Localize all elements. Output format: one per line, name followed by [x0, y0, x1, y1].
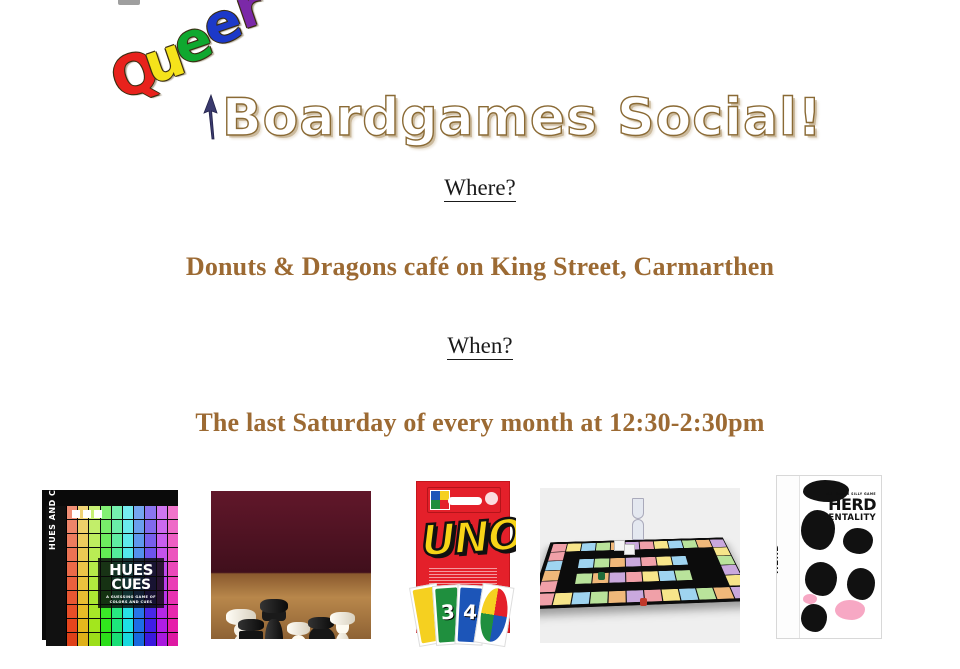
hues-spine: HUES AND CUES [46, 506, 67, 646]
boardgame-image-strip: HUES AND CUES HUES CUES A GUESSING GAME … [0, 455, 960, 660]
when-label: When? [0, 333, 960, 359]
uno-fine-print [429, 568, 497, 584]
herd-spine: HERD [777, 476, 800, 638]
herd-title-line1: HERD [816, 497, 876, 513]
player-token-red [640, 598, 647, 606]
hues-pips [72, 510, 102, 518]
chess-photo [211, 491, 371, 639]
when-label-text: When? [447, 333, 512, 360]
uno-hang-slot [448, 497, 482, 505]
hues-logo: HUES CUES A GUESSING GAME OF COLORS AND … [98, 558, 164, 608]
gallery-image-uno: UNO 3 4 [408, 477, 516, 649]
hourglass-timer-icon [632, 498, 642, 540]
arrow-pointer-icon [198, 93, 224, 145]
herd-box-art: HERD THE SUPER SILLY GAME HERD MENTALITY [776, 475, 882, 639]
hues-logo-tagline: A GUESSING GAME OF COLORS AND CUES [98, 595, 164, 605]
gallery-image-trivia-board [540, 488, 740, 643]
when-answer: The last Saturday of every month at 12:3… [0, 408, 960, 438]
where-answer: Donuts & Dragons café on King Street, Ca… [0, 252, 960, 282]
gallery-image-hues-and-cues: HUES AND CUES HUES CUES A GUESSING GAME … [38, 480, 182, 648]
game-die-2 [624, 544, 635, 555]
gallery-image-chess-pieces [205, 485, 377, 645]
where-label: Where? [0, 175, 960, 201]
player-token-green [598, 572, 605, 580]
poster-canvas: Q u e e r Boardgames Social! Where? Donu… [0, 7, 960, 669]
hues-spine-text: HUES AND CUES [48, 480, 57, 550]
window-tab-nub [118, 0, 140, 5]
gallery-image-herd-mentality: HERD THE SUPER SILLY GAME HERD MENTALITY [758, 467, 898, 647]
trivia-board-photo [540, 488, 740, 643]
where-label-text: Where? [444, 175, 516, 202]
uno-hang-tab [427, 487, 501, 513]
hues-box-art: HUES AND CUES HUES CUES A GUESSING GAME … [42, 490, 178, 640]
poster-title: Q u e e r Boardgames Social! [0, 7, 960, 167]
herd-spine-text: HERD [777, 544, 781, 574]
uno-logo-text: UNO [419, 513, 506, 565]
hues-logo-line1: HUES [98, 563, 164, 578]
mattel-logo-icon [485, 492, 498, 505]
title-word-boardgames: Boardgames Social! [222, 89, 823, 147]
uno-brand-icon [430, 490, 450, 510]
herd-title-block: THE SUPER SILLY GAME HERD MENTALITY [816, 492, 876, 524]
uno-card-fan: 3 4 [410, 583, 514, 645]
hues-logo-line3: CUES [98, 578, 164, 592]
herd-title-line2: MENTALITY [816, 513, 876, 524]
